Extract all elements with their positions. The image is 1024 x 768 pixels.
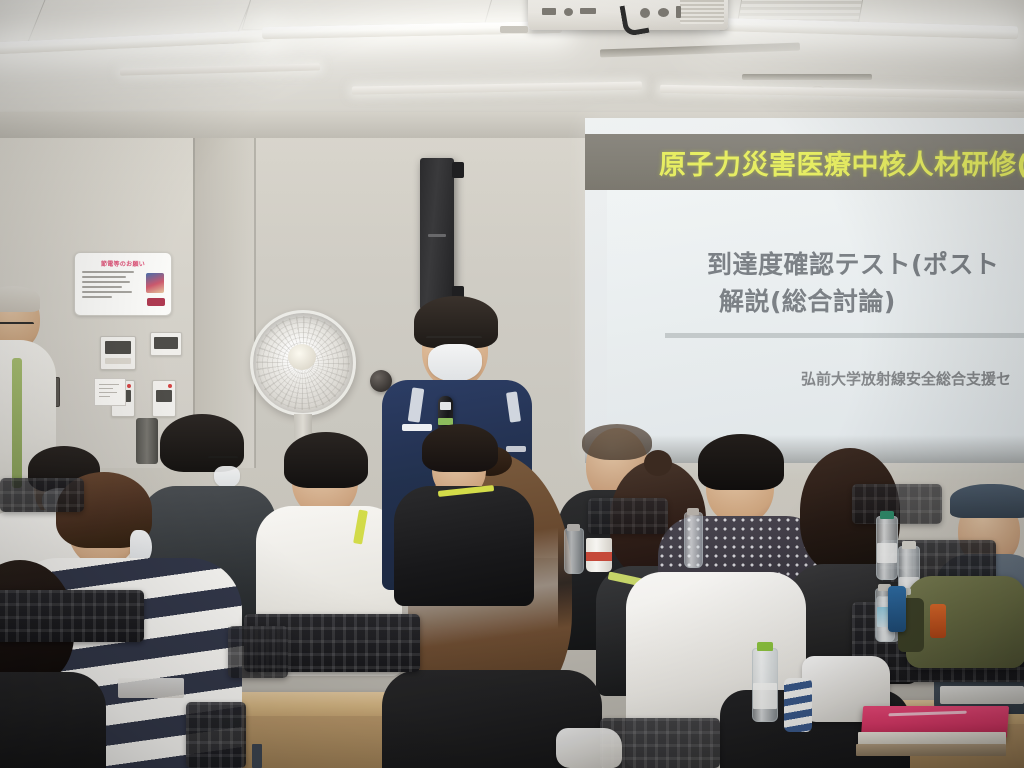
projector-port — [564, 8, 573, 16]
torso — [0, 672, 106, 768]
poster-badge — [147, 298, 165, 306]
bottle-cap — [687, 508, 699, 515]
projector-port — [542, 8, 556, 15]
face-mask — [428, 344, 482, 382]
ac-controller[interactable] — [100, 336, 136, 370]
olive-backpack — [906, 576, 1024, 668]
slide-title-band: 原子力災害医療中核人材研修(実 — [585, 134, 1024, 190]
face-mask — [214, 466, 240, 488]
glasses-icon — [0, 322, 34, 333]
binder-highlight — [888, 711, 966, 717]
bottle-cap — [567, 524, 580, 531]
cup-band — [586, 552, 612, 561]
bottle-cap — [880, 511, 894, 519]
chair — [186, 702, 246, 768]
ac-controller[interactable] — [150, 332, 182, 356]
water-bottle — [752, 648, 778, 722]
projector-mount — [500, 26, 528, 33]
projector-grille — [680, 0, 724, 24]
ceiling-light-reflection — [352, 81, 642, 94]
poster-text-lines — [82, 271, 142, 301]
projector-port — [658, 8, 669, 17]
hair — [0, 286, 40, 312]
desk-leg — [252, 744, 262, 768]
water-bottle — [564, 528, 584, 574]
bottle-cap — [902, 541, 916, 549]
paper-sheet — [940, 686, 1024, 704]
wall-poster: 節電等のお願い — [74, 252, 172, 316]
bottle-cap — [757, 642, 773, 651]
ceiling-slot — [600, 43, 800, 58]
chair — [0, 478, 84, 512]
striped-item — [784, 678, 812, 732]
thermostat-panel[interactable] — [152, 380, 176, 417]
slide-heading-line1: 到達度確認テスト(ポスト — [707, 245, 999, 281]
slide-subtitle: 弘前大学放射線安全総合支援セ — [801, 368, 1011, 389]
polo-badge — [506, 446, 526, 452]
hair — [698, 434, 784, 490]
status-led-icon — [168, 384, 172, 388]
controller-display — [105, 341, 131, 354]
water-bottle — [876, 516, 898, 580]
bag-accessory — [930, 604, 946, 638]
wall-notice — [94, 378, 126, 406]
chair — [0, 590, 144, 642]
hair — [422, 424, 498, 472]
ceiling-slot — [742, 74, 872, 80]
wall-fan — [250, 310, 356, 416]
projection-screen: 原子力災害医療中核人材研修(実 到達度確認テスト(ポスト 解説(総合討論) 弘前… — [585, 118, 1024, 463]
hair — [284, 432, 368, 488]
ceiling-light-reflection — [120, 63, 320, 75]
bottle-label — [753, 683, 777, 709]
hair — [582, 424, 652, 460]
slide-divider — [665, 333, 1024, 338]
poster-title: 節電等のお願い — [75, 259, 171, 268]
hair-tie — [644, 450, 672, 476]
bag-tag — [888, 586, 906, 632]
plastic-bag — [556, 728, 622, 768]
ceiling-light-reflection — [660, 85, 1024, 99]
torso — [394, 486, 534, 606]
polo-badge — [402, 424, 432, 431]
wall-edge — [254, 138, 256, 468]
binder-papers — [856, 744, 1006, 756]
poster-illustration — [146, 273, 164, 293]
slide-heading-line2: 解説(総合討論) — [719, 282, 896, 318]
status-led-icon — [127, 384, 131, 388]
ceiling-light-tube — [718, 18, 1018, 39]
fan-hub — [288, 344, 316, 370]
thermostat-display — [156, 390, 172, 402]
controller-display — [154, 337, 178, 349]
speaker-logo — [428, 234, 446, 237]
water-bottle — [684, 512, 703, 568]
speaker-bracket — [452, 162, 464, 178]
controller-buttons[interactable] — [105, 358, 131, 364]
lanyard — [12, 358, 22, 488]
projector-port — [676, 6, 681, 18]
projector-port — [580, 8, 596, 14]
paper-sheet — [118, 678, 184, 698]
slide-title: 原子力災害医療中核人材研修(実 — [585, 143, 1024, 182]
microphone-label — [440, 402, 451, 410]
chair — [228, 626, 288, 678]
photo-scene: 原子力災害医療中核人材研修(実 到達度確認テスト(ポスト 解説(総合討論) 弘前… — [0, 0, 1024, 768]
slide-body: 到達度確認テスト(ポスト 解説(総合討論) 弘前大学放射線安全総合支援セ — [607, 190, 1024, 463]
chair — [588, 498, 668, 534]
wall-speaker — [420, 158, 454, 310]
fan-pole — [136, 418, 158, 464]
paper-cup — [586, 538, 612, 572]
cap — [950, 484, 1024, 518]
bottle-label — [877, 543, 897, 563]
